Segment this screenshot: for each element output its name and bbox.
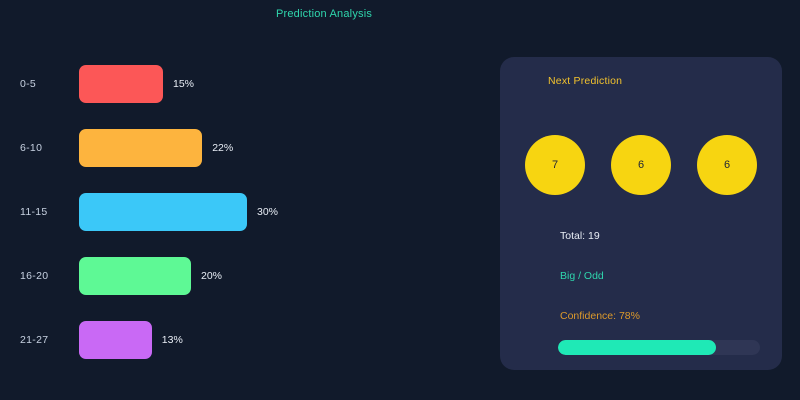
next-prediction-panel: Next Prediction 7 6 6 Total: 19 Big / Od… — [500, 57, 782, 370]
confidence-progress-track — [558, 340, 760, 355]
prediction-analysis-screen: Prediction Analysis 0-5 15% 6-10 22% 11-… — [0, 0, 800, 400]
bar-track-4 — [79, 321, 152, 359]
prediction-type: Big / Odd — [560, 270, 604, 282]
confidence-progress-fill — [558, 340, 716, 355]
bar-row[interactable]: 21-27 13% — [0, 308, 470, 372]
bar-label-2: 11-15 — [20, 206, 48, 218]
prediction-confidence: Confidence: 78% — [560, 310, 640, 322]
prediction-distribution-chart: 0-5 15% 6-10 22% 11-15 30% 16-20 — [0, 52, 470, 372]
bar-label-3: 16-20 — [20, 270, 48, 282]
bar-row[interactable]: 0-5 15% — [0, 52, 470, 116]
bar-fill-2 — [79, 193, 247, 231]
prediction-total: Total: 19 — [560, 230, 600, 242]
bar-value-1: 22% — [212, 142, 233, 154]
prediction-ball-2[interactable]: 6 — [697, 135, 757, 195]
bar-value-3: 20% — [201, 270, 222, 282]
bar-fill-0 — [79, 65, 163, 103]
prediction-balls: 7 6 6 — [500, 135, 782, 195]
bar-fill-1 — [79, 129, 202, 167]
bar-label-1: 6-10 — [20, 142, 42, 154]
bar-row[interactable]: 16-20 20% — [0, 244, 470, 308]
bar-track-2 — [79, 193, 247, 231]
bar-track-1 — [79, 129, 202, 167]
bar-track-0 — [79, 65, 163, 103]
page-title: Prediction Analysis — [0, 8, 648, 20]
bar-value-0: 15% — [173, 78, 194, 90]
bar-track-3 — [79, 257, 191, 295]
bar-row[interactable]: 6-10 22% — [0, 116, 470, 180]
panel-title: Next Prediction — [548, 75, 622, 87]
prediction-ball-1[interactable]: 6 — [611, 135, 671, 195]
bar-label-4: 21-27 — [20, 334, 48, 346]
bar-label-0: 0-5 — [20, 78, 36, 90]
bar-fill-3 — [79, 257, 191, 295]
bar-row[interactable]: 11-15 30% — [0, 180, 470, 244]
bar-value-4: 13% — [162, 334, 183, 346]
bar-fill-4 — [79, 321, 152, 359]
bar-value-2: 30% — [257, 206, 278, 218]
prediction-ball-0[interactable]: 7 — [525, 135, 585, 195]
